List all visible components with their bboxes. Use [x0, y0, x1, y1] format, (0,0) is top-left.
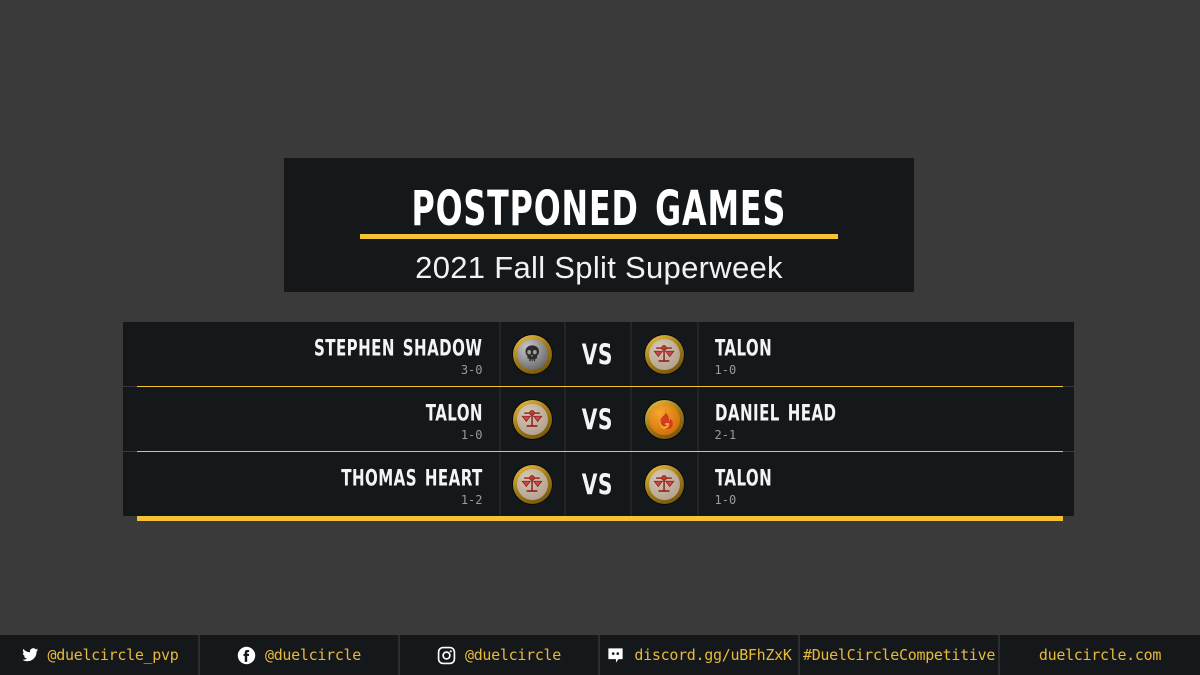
- match-row[interactable]: Thomas Heart1-2VSTalon1-0: [123, 452, 1074, 516]
- row-underline: [137, 516, 1063, 521]
- footer-item-instagram[interactable]: @duelcircle: [400, 635, 600, 675]
- versus-label: VS: [582, 402, 613, 435]
- team-name: Talon: [425, 395, 482, 426]
- match-list: Stephen Shadow3-0VSTalon1-0Talon1-0VSDan…: [123, 322, 1074, 517]
- team-record: 3-0: [461, 364, 483, 376]
- scales-emblem: [645, 465, 684, 504]
- match-right-emblem-cell: [632, 322, 699, 386]
- match-left-team: Talon1-0: [123, 387, 499, 451]
- team-record: 1-0: [715, 494, 737, 506]
- title-block: Postponed Games 2021 Fall Split Superwee…: [284, 158, 914, 292]
- match-left-emblem-cell: [499, 452, 566, 516]
- skull-emblem: [513, 335, 552, 374]
- match-right-team: Daniel Head2-1: [699, 387, 1075, 451]
- footer-bar: @duelcircle_pvp @duelcircle @duelcircle …: [0, 635, 1200, 675]
- twitter-icon: [20, 646, 39, 665]
- team-record: 1-2: [461, 494, 483, 506]
- team-info: Daniel Head2-1: [715, 397, 853, 441]
- team-info: Stephen Shadow3-0: [291, 332, 482, 376]
- facebook-icon: [237, 646, 256, 665]
- scales-emblem: [513, 465, 552, 504]
- team-record: 1-0: [715, 364, 737, 376]
- team-name: Thomas Heart: [341, 460, 482, 491]
- footer-item-discord[interactable]: discord.gg/uBFhZxK: [600, 635, 800, 675]
- match-right-team: Talon1-0: [699, 322, 1075, 386]
- footer-item-hashtag: #DuelCircleCompetitive: [800, 635, 1000, 675]
- versus-label: VS: [582, 467, 613, 500]
- match-right-team: Talon1-0: [699, 452, 1075, 516]
- match-right-emblem-cell: [632, 452, 699, 516]
- team-info: Thomas Heart1-2: [322, 462, 483, 506]
- versus-cell: VS: [566, 387, 632, 451]
- page-title: Postponed Games: [412, 166, 787, 238]
- footer-item-twitter[interactable]: @duelcircle_pvp: [0, 635, 200, 675]
- emblem-disc: [649, 404, 680, 435]
- team-record: 2-1: [715, 429, 737, 441]
- match-right-emblem-cell: [632, 387, 699, 451]
- footer-item-label: #DuelCircleCompetitive: [803, 646, 995, 664]
- discord-icon: [606, 646, 625, 665]
- page-subtitle: 2021 Fall Split Superweek: [415, 250, 783, 286]
- team-record: 1-0: [461, 429, 483, 441]
- footer-item-label: @duelcircle_pvp: [48, 646, 179, 664]
- team-info: Talon1-0: [418, 397, 483, 441]
- scales-emblem: [513, 400, 552, 439]
- scales-emblem: [645, 335, 684, 374]
- footer-item-label: duelcircle.com: [1039, 646, 1161, 664]
- match-row[interactable]: Stephen Shadow3-0VSTalon1-0: [123, 322, 1074, 386]
- team-name: Talon: [715, 330, 772, 361]
- match-left-emblem-cell: [499, 322, 566, 386]
- match-left-emblem-cell: [499, 387, 566, 451]
- versus-label: VS: [582, 337, 613, 370]
- footer-item-facebook[interactable]: @duelcircle: [200, 635, 400, 675]
- team-name: Talon: [715, 460, 772, 491]
- footer-item-label: @duelcircle: [465, 646, 561, 664]
- emblem-disc: [517, 404, 548, 435]
- versus-cell: VS: [566, 322, 632, 386]
- match-left-team: Thomas Heart1-2: [123, 452, 499, 516]
- match-left-team: Stephen Shadow3-0: [123, 322, 499, 386]
- emblem-disc: [517, 469, 548, 500]
- team-name: Stephen Shadow: [314, 330, 482, 361]
- team-info: Talon1-0: [715, 332, 780, 376]
- emblem-disc: [517, 339, 548, 370]
- emblem-disc: [649, 469, 680, 500]
- footer-item-label: discord.gg/uBFhZxK: [634, 646, 791, 664]
- emblem-disc: [649, 339, 680, 370]
- footer-item-website[interactable]: duelcircle.com: [1000, 635, 1200, 675]
- versus-cell: VS: [566, 452, 632, 516]
- instagram-icon: [437, 646, 456, 665]
- team-info: Talon1-0: [715, 462, 780, 506]
- team-name: Daniel Head: [715, 395, 836, 426]
- footer-item-label: @duelcircle: [265, 646, 361, 664]
- flame-emblem: [645, 400, 684, 439]
- match-row[interactable]: Talon1-0VSDaniel Head2-1: [123, 387, 1074, 451]
